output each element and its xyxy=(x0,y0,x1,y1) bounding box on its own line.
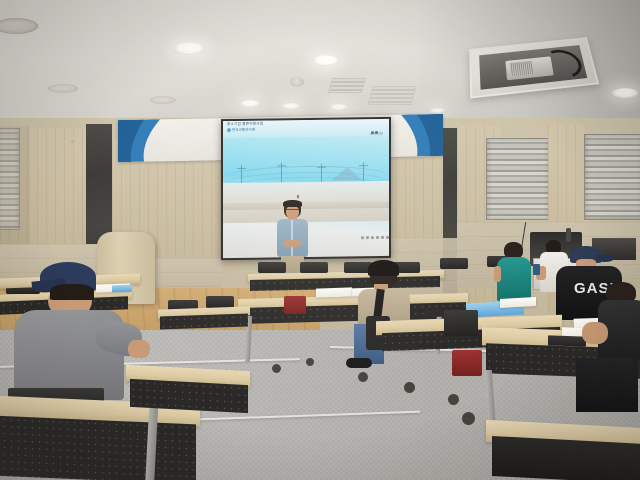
attendee-hair xyxy=(50,284,94,300)
hvac-vent xyxy=(328,78,366,93)
open-book xyxy=(316,287,352,297)
lecture-hall-photo: 2025년 18기 중소기업 물류지원사업 한국교통연구원 소속/성명 xyxy=(0,0,640,480)
ceiling-downlight xyxy=(240,100,260,107)
ceiling-speaker-icon xyxy=(150,96,176,104)
desk-apron xyxy=(492,436,640,480)
ceiling-downlight xyxy=(172,42,206,55)
attendee-arm xyxy=(494,266,501,282)
attendee-teal-polo xyxy=(494,242,534,300)
chair-caster xyxy=(448,394,459,405)
slide-logo-text: 한국교통연구원 xyxy=(232,128,255,133)
slide-pylon-arm xyxy=(359,165,368,166)
wall-wood-panel xyxy=(28,128,86,260)
chair-caster xyxy=(462,412,475,425)
hvac-vent xyxy=(367,86,416,105)
ceiling-downlight xyxy=(430,108,445,113)
window-blind xyxy=(584,134,640,220)
slide-marker xyxy=(297,195,299,198)
chair xyxy=(258,262,286,273)
presenter-hair xyxy=(283,200,302,207)
ceiling-downlight xyxy=(330,104,347,110)
smartphone-icon xyxy=(533,264,540,275)
presenter-hands xyxy=(283,240,301,247)
shirt-placket xyxy=(291,220,293,256)
slide-pylon-arm xyxy=(317,167,326,168)
attendee-shirt xyxy=(497,257,531,301)
attendee-shoe xyxy=(346,358,372,368)
slide-logo-icon xyxy=(227,128,231,132)
chair-caster xyxy=(358,372,368,382)
cap-brim xyxy=(596,255,614,262)
projector-vent xyxy=(510,61,534,76)
slide-pylon-arm xyxy=(277,165,286,166)
glasses-icon xyxy=(285,209,300,213)
pen-case xyxy=(424,309,444,317)
ceiling-downlight xyxy=(612,88,638,98)
window-blind xyxy=(0,128,20,230)
ceiling-speaker-icon xyxy=(48,84,78,93)
window-blind xyxy=(486,138,550,220)
chair-seat xyxy=(284,296,306,314)
ceiling-downlight xyxy=(312,55,340,66)
chair-caster xyxy=(306,358,314,366)
wall-marker xyxy=(71,140,74,143)
chair xyxy=(440,258,468,269)
attendee-hand xyxy=(128,340,150,358)
chair xyxy=(300,262,328,273)
paper-sheet xyxy=(500,297,536,308)
attendee-front-right-reader xyxy=(596,282,640,412)
slide-pylon-arm xyxy=(237,168,246,169)
chair-caster xyxy=(272,364,281,373)
desk-apron xyxy=(0,416,196,480)
chair xyxy=(444,310,478,336)
chair-seat xyxy=(452,350,482,376)
slide-title-text: 중소기업 물류지원사업 xyxy=(227,122,263,128)
laptop xyxy=(548,335,586,346)
ceiling-downlight xyxy=(282,103,300,109)
attendee-arm xyxy=(582,322,608,344)
chair-caster xyxy=(404,382,415,393)
attendee-pants xyxy=(576,358,638,412)
slide-window-controls xyxy=(371,121,385,126)
projector-recess xyxy=(479,45,587,90)
projector-cable xyxy=(538,46,585,83)
smoke-detector-icon xyxy=(290,77,304,87)
attendee-hair xyxy=(368,260,399,276)
